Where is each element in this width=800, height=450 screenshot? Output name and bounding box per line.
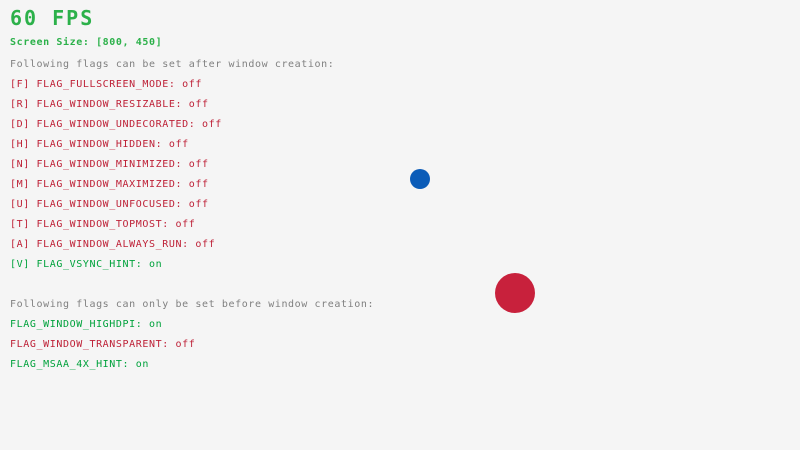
flag-row[interactable]: [U] FLAG_WINDOW_UNFOCUSED: off — [10, 200, 209, 210]
flag-row[interactable]: [H] FLAG_WINDOW_HIDDEN: off — [10, 140, 189, 150]
flag-row[interactable]: FLAG_WINDOW_TRANSPARENT: off — [10, 340, 195, 350]
flag-row[interactable]: [M] FLAG_WINDOW_MAXIMIZED: off — [10, 180, 209, 190]
flag-row[interactable]: [N] FLAG_WINDOW_MINIMIZED: off — [10, 160, 209, 170]
flag-row[interactable]: FLAG_WINDOW_HIGHDPI: on — [10, 320, 162, 330]
raylib-window-canvas[interactable]: 60 FPS Screen Size: [800, 450] Following… — [0, 0, 800, 450]
flag-row[interactable]: [R] FLAG_WINDOW_RESIZABLE: off — [10, 100, 209, 110]
red-circle — [495, 273, 535, 313]
fps-counter: 60 FPS — [10, 8, 94, 28]
flag-row[interactable]: [V] FLAG_VSYNC_HINT: on — [10, 260, 162, 270]
flag-row[interactable]: [T] FLAG_WINDOW_TOPMOST: off — [10, 220, 195, 230]
blue-circle — [410, 169, 430, 189]
section-heading-after-creation: Following flags can be set after window … — [10, 60, 334, 70]
flag-row[interactable]: [F] FLAG_FULLSCREEN_MODE: off — [10, 80, 202, 90]
flag-row[interactable]: [A] FLAG_WINDOW_ALWAYS_RUN: off — [10, 240, 215, 250]
flag-row[interactable]: FLAG_MSAA_4X_HINT: on — [10, 360, 149, 370]
screen-size-label: Screen Size: [800, 450] — [10, 38, 162, 48]
flag-row[interactable]: [D] FLAG_WINDOW_UNDECORATED: off — [10, 120, 222, 130]
section-heading-before-creation: Following flags can only be set before w… — [10, 300, 374, 310]
